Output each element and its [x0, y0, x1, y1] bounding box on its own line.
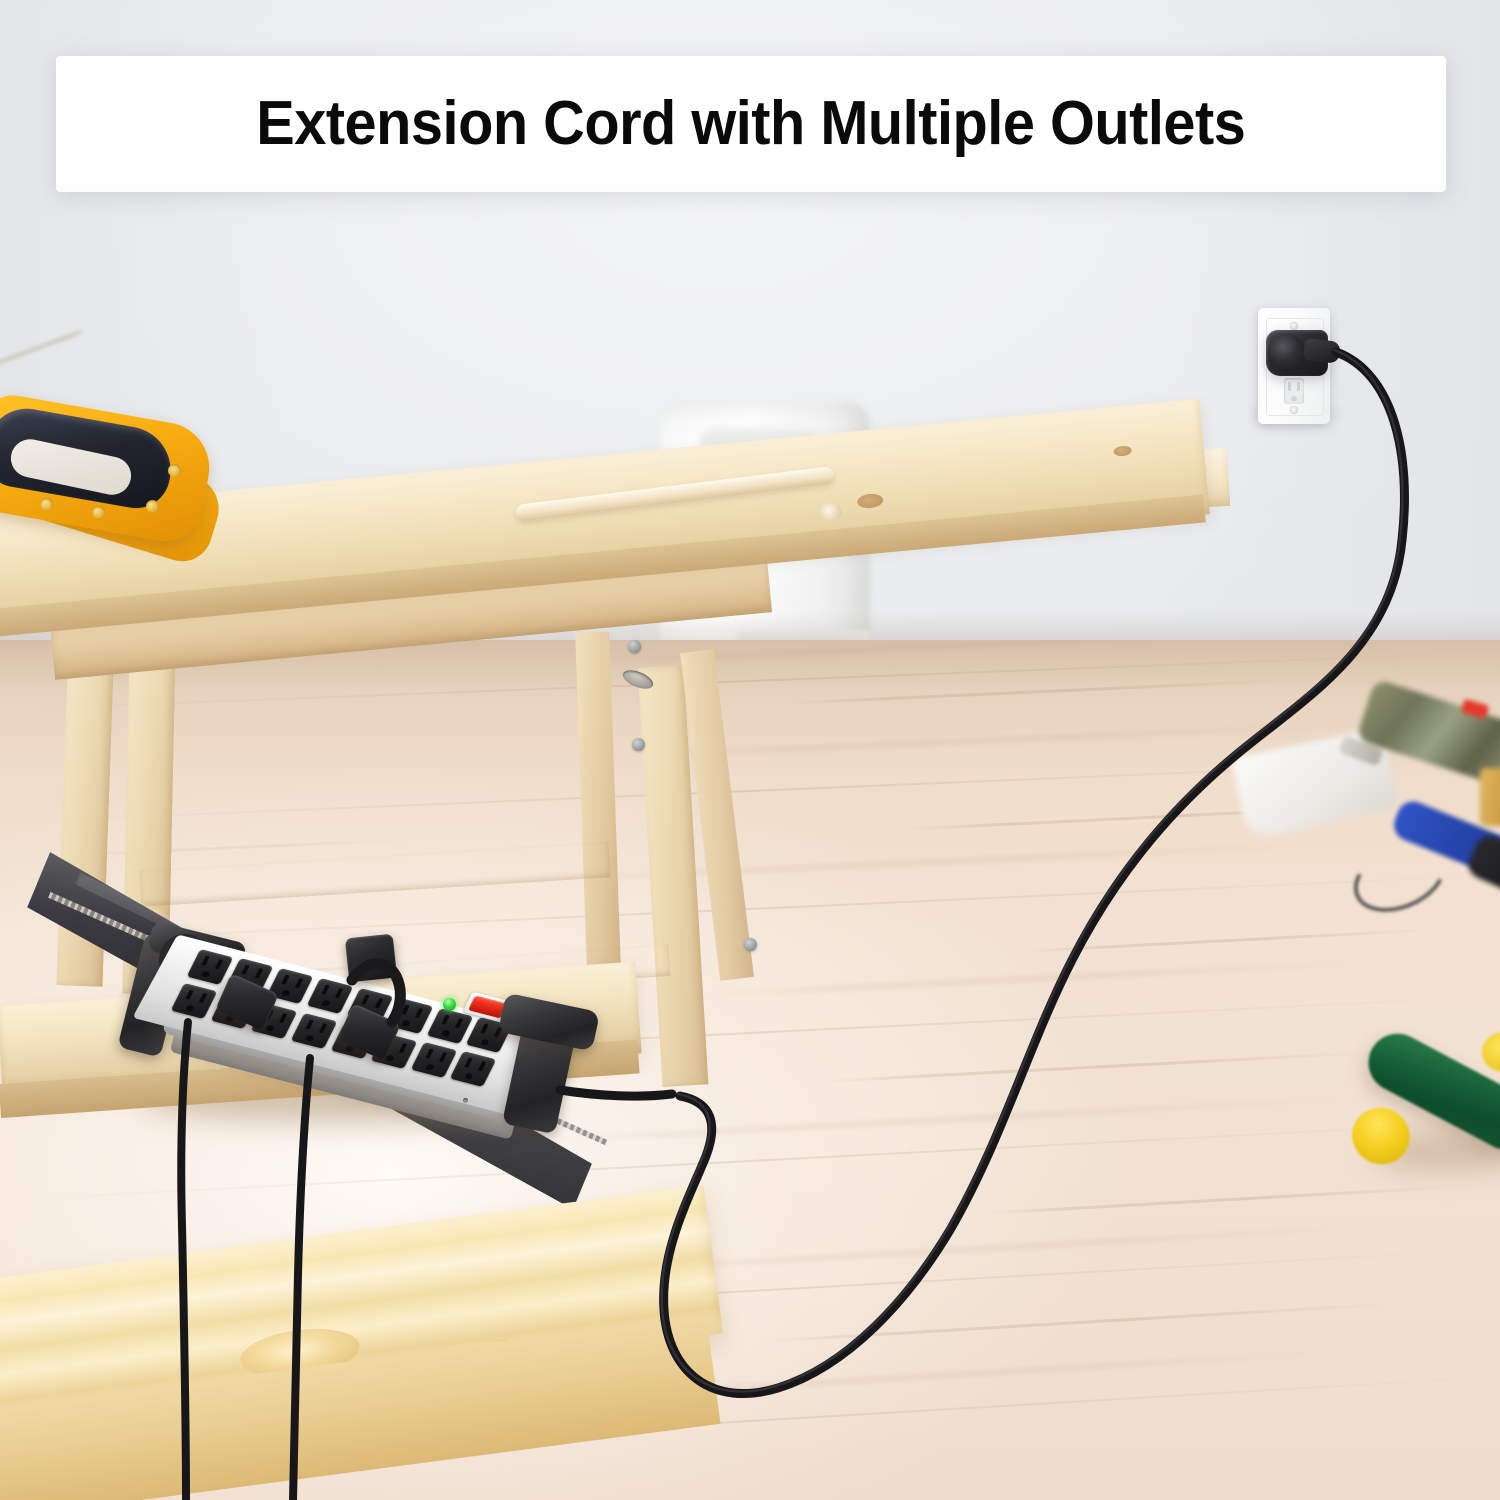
extension-cord-highlight: [662, 350, 1403, 1392]
extension-cord-main: [664, 352, 1405, 1394]
page-title: Extension Cord with Multiple Outlets: [256, 93, 1245, 155]
cord-layer: [0, 0, 1500, 1500]
device-cord-2: [293, 1058, 310, 1500]
device-cord-1: [181, 1022, 188, 1500]
product-lifestyle-image: Extension Cord with Multiple Outlets: [0, 0, 1500, 1500]
cord-strip-outlet: [560, 1090, 672, 1096]
device-cord-3-loop: [352, 964, 400, 1022]
title-banner: Extension Cord with Multiple Outlets: [56, 56, 1446, 192]
